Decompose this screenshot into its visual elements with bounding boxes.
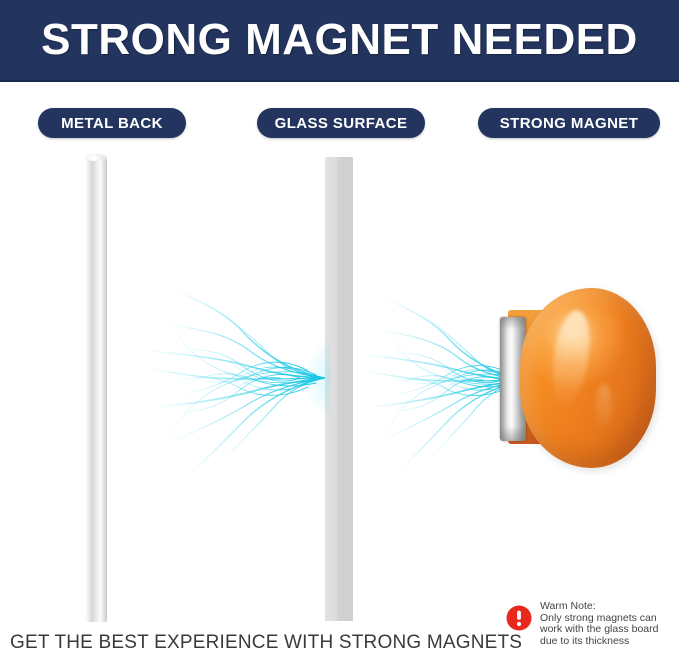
header-banner: STRONG MAGNET NEEDED [0,0,679,82]
magnet-secondary-highlight [596,384,612,432]
metal-back-bar-top-cap [85,154,107,161]
warn-note-text: Warm Note: Only strong magnets can work … [540,601,676,647]
exclamation-circle-icon [506,605,532,631]
label-pill-strong-magnet-text: STRONG MAGNET [500,115,639,132]
label-pill-metal-back: METAL BACK [38,108,186,138]
product-infographic: STRONG MAGNET NEEDED METAL BACK GLASS SU… [0,0,679,660]
strong-magnet-object [498,288,658,468]
page-title: STRONG MAGNET NEEDED [0,14,679,66]
magnetic-field-left-icon [140,275,330,485]
label-pill-glass-surface-text: GLASS SURFACE [275,115,408,132]
bottom-caption: GET THE BEST EXPERIENCE WITH STRONG MAGN… [10,632,490,654]
warn-note-title: Warm Note: [540,601,676,613]
label-pill-glass-surface: GLASS SURFACE [257,108,425,138]
warn-note: Warm Note: Only strong magnets can work … [506,601,676,647]
label-pill-metal-back-text: METAL BACK [61,115,163,132]
metal-back-bar [85,157,107,622]
label-pill-strong-magnet: STRONG MAGNET [478,108,660,138]
warn-note-body: Only strong magnets can work with the gl… [540,613,676,648]
magnet-dome-body [520,288,656,468]
